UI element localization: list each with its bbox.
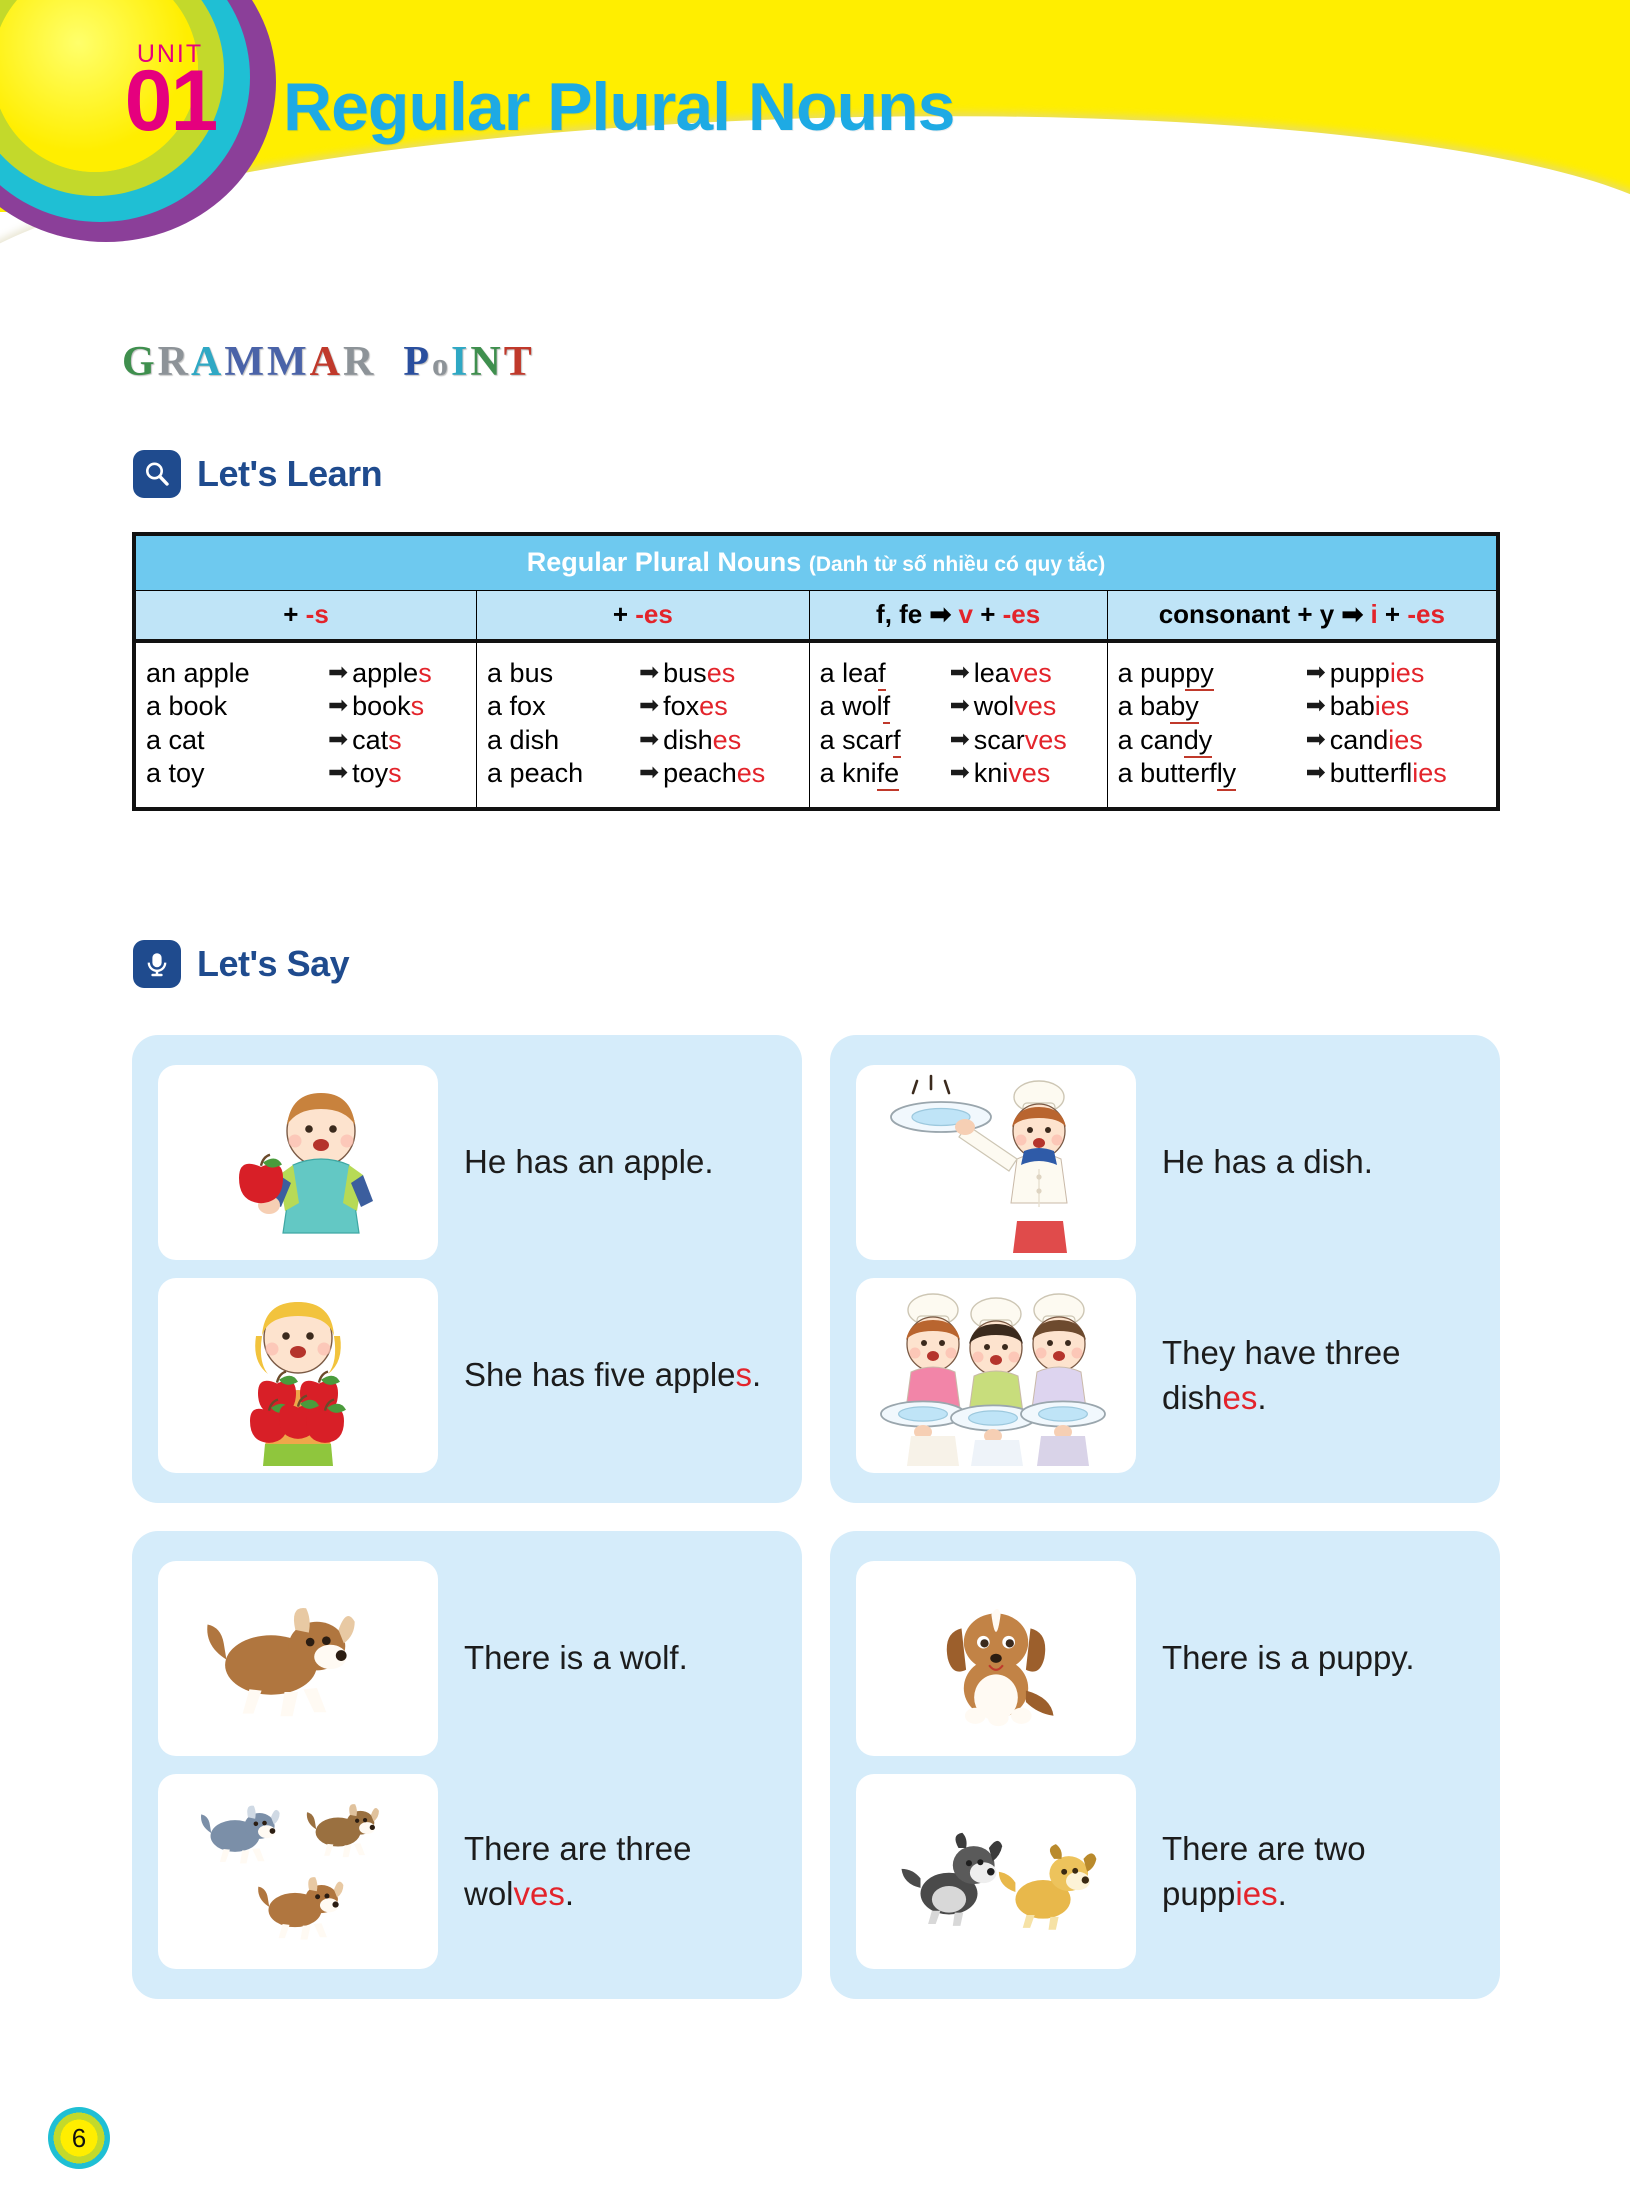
singular-word: a puppy bbox=[1118, 657, 1302, 690]
word-pair-row: a candy➡candies bbox=[1118, 724, 1486, 757]
singular-word: a book bbox=[146, 690, 324, 723]
highlighted-ending: f bbox=[893, 725, 901, 758]
word-pair-row: a peach➡peaches bbox=[487, 757, 799, 790]
word-pair-row: a baby➡babies bbox=[1118, 690, 1486, 723]
arrow-icon: ➡ bbox=[1302, 758, 1330, 788]
col-head-part: f, fe bbox=[876, 599, 929, 629]
example-sentence: She has five apples. bbox=[464, 1278, 776, 1473]
magnifier-icon bbox=[133, 450, 181, 498]
chef-boy-holding-dish-image bbox=[856, 1065, 1136, 1260]
word-pair-row: a scarf➡scarves bbox=[820, 724, 1097, 757]
col-head-part: -s bbox=[306, 599, 329, 629]
col-head-part: -es bbox=[1003, 599, 1041, 629]
plural-suffix: ves bbox=[1010, 657, 1052, 690]
column-header-f-to-v: f, fe ➡ v + -es bbox=[809, 591, 1107, 642]
section-title: Let's Say bbox=[197, 943, 349, 985]
word-pair-row: an apple➡apples bbox=[146, 657, 466, 690]
sentence-stem: There is a puppy. bbox=[1162, 1639, 1415, 1676]
sentence-plural-suffix: ies bbox=[1235, 1875, 1277, 1912]
highlighted-ending: f bbox=[883, 691, 891, 724]
plural-suffix: ies bbox=[1390, 657, 1425, 690]
sentence-period: . bbox=[565, 1875, 574, 1912]
word-pair-row: a butterfly➡butterflies bbox=[1118, 757, 1486, 790]
singular-word: a fox bbox=[487, 690, 635, 723]
table-column-header-row: + -s + -es f, fe ➡ v + -es consonant + y… bbox=[134, 591, 1498, 642]
unit-number: 01 bbox=[98, 58, 243, 144]
arrow-icon: ➡ bbox=[635, 725, 663, 755]
plural-stem: wol bbox=[974, 690, 1015, 723]
grammar-letter: o bbox=[432, 346, 451, 383]
singular-word: a bus bbox=[487, 657, 635, 690]
lets-say-panels: He has an apple.She has five apples.He h… bbox=[132, 1035, 1500, 1999]
example-row: There is a wolf. bbox=[158, 1561, 776, 1756]
table-title-en: Regular Plural Nouns bbox=[527, 547, 802, 577]
col-head-part: ➡ bbox=[1341, 599, 1370, 629]
singular-word: an apple bbox=[146, 657, 324, 690]
grammar-letter: R bbox=[343, 338, 376, 386]
word-pair-row: a wolf➡wolves bbox=[820, 690, 1097, 723]
arrow-icon: ➡ bbox=[635, 758, 663, 788]
sentence-plural-suffix: ves bbox=[514, 1875, 565, 1912]
three-chefs-holding-dishes-image bbox=[856, 1278, 1136, 1473]
example-row: There is a puppy. bbox=[856, 1561, 1474, 1756]
plural-stem: dish bbox=[663, 724, 713, 757]
table-title-row: Regular Plural Nouns (Danh từ số nhiều c… bbox=[134, 534, 1498, 591]
word-pair-row: a puppy➡puppies bbox=[1118, 657, 1486, 690]
singular-word: a butterfly bbox=[1118, 757, 1302, 790]
arrow-icon: ➡ bbox=[946, 691, 974, 721]
plural-stem: lea bbox=[974, 657, 1010, 690]
word-pair-row: a toy➡toys bbox=[146, 757, 466, 790]
grammar-letter: G bbox=[122, 338, 158, 386]
example-sentence: There is a wolf. bbox=[464, 1561, 776, 1756]
example-row: She has five apples. bbox=[158, 1278, 776, 1473]
microphone-icon bbox=[133, 940, 181, 988]
grammar-letter: A bbox=[310, 338, 343, 386]
singular-word: a wolf bbox=[820, 690, 946, 723]
example-row: There are three wolves. bbox=[158, 1774, 776, 1969]
word-pair-row: a book➡books bbox=[146, 690, 466, 723]
singular-word: a leaf bbox=[820, 657, 946, 690]
column-header-y-to-i: consonant + y ➡ i + -es bbox=[1107, 591, 1498, 642]
plural-stem: bus bbox=[663, 657, 707, 690]
highlighted-ending: f bbox=[878, 658, 886, 691]
sentence-stem: He has a dish. bbox=[1162, 1143, 1373, 1180]
section-title: Let's Learn bbox=[197, 453, 382, 495]
plural-stem: apple bbox=[352, 657, 418, 690]
plural-suffix: ies bbox=[1412, 757, 1447, 790]
two-puppies-image bbox=[856, 1774, 1136, 1969]
plural-suffix: ves bbox=[1014, 690, 1056, 723]
plural-stem: pupp bbox=[1330, 657, 1390, 690]
sentence-stem: There is a wolf. bbox=[464, 1639, 688, 1676]
plural-suffix: ies bbox=[1375, 690, 1410, 723]
column-header-es: + -es bbox=[477, 591, 810, 642]
word-pair-row: a knife➡knives bbox=[820, 757, 1097, 790]
plural-suffix: s bbox=[411, 690, 425, 723]
table-body-row: an apple➡applesa book➡booksa cat➡catsa t… bbox=[134, 641, 1498, 809]
table-title: Regular Plural Nouns (Danh từ số nhiều c… bbox=[134, 534, 1498, 591]
arrow-icon: ➡ bbox=[324, 691, 352, 721]
plural-stem: peach bbox=[663, 757, 737, 790]
singular-word: a candy bbox=[1118, 724, 1302, 757]
plural-suffix: s bbox=[388, 757, 402, 790]
word-pair-row: a fox➡foxes bbox=[487, 690, 799, 723]
plural-stem: cat bbox=[352, 724, 388, 757]
plural-stem: fox bbox=[663, 690, 699, 723]
grammar-letter: P bbox=[403, 338, 432, 386]
grammar-letter: R bbox=[158, 338, 191, 386]
grammar-letter: T bbox=[504, 338, 535, 386]
singular-prefix: a can bbox=[1118, 725, 1184, 755]
plural-suffix: s bbox=[418, 657, 432, 690]
example-row: He has an apple. bbox=[158, 1065, 776, 1260]
example-sentence: He has a dish. bbox=[1162, 1065, 1474, 1260]
cell-plural-f-to-ves: a leaf➡leavesa wolf➡wolvesa scarf➡scarve… bbox=[809, 641, 1107, 809]
example-row: He has a dish. bbox=[856, 1065, 1474, 1260]
girl-holding-five-apples-image bbox=[158, 1278, 438, 1473]
single-wolf-image bbox=[158, 1561, 438, 1756]
grammar-letter: N bbox=[470, 338, 503, 386]
example-sentence: They have three dishes. bbox=[1162, 1278, 1474, 1473]
arrow-icon: ➡ bbox=[946, 725, 974, 755]
singular-word: a peach bbox=[487, 757, 635, 790]
sentence-stem: There are three wol bbox=[464, 1830, 691, 1912]
word-pair-row: a cat➡cats bbox=[146, 724, 466, 757]
grammar-letter: A bbox=[191, 338, 224, 386]
arrow-icon: ➡ bbox=[946, 658, 974, 688]
singular-word: a scarf bbox=[820, 724, 946, 757]
plural-suffix: es bbox=[737, 757, 766, 790]
sentence-plural-suffix: es bbox=[1223, 1379, 1258, 1416]
cell-plural-s: an apple➡applesa book➡booksa cat➡catsa t… bbox=[134, 641, 477, 809]
highlighted-ending: ly bbox=[1217, 758, 1237, 791]
example-row: There are two puppies. bbox=[856, 1774, 1474, 1969]
singular-prefix: a ba bbox=[1118, 691, 1171, 721]
grammar-letter: I bbox=[451, 338, 470, 386]
singular-word: a knife bbox=[820, 757, 946, 790]
grammar-rules-table: Regular Plural Nouns (Danh từ số nhiều c… bbox=[132, 532, 1500, 811]
highlighted-ending: py bbox=[1185, 658, 1214, 691]
example-sentence: There are three wolves. bbox=[464, 1774, 776, 1969]
plural-stem: cand bbox=[1330, 724, 1389, 757]
sentence-period: . bbox=[752, 1356, 761, 1393]
sentence-stem: He has an apple. bbox=[464, 1143, 714, 1180]
section-lets-say: Let's Say bbox=[133, 940, 349, 988]
singular-word: a toy bbox=[146, 757, 324, 790]
column-header-s: + -s bbox=[134, 591, 477, 642]
plural-suffix: ves bbox=[1025, 724, 1067, 757]
dish-panel: He has a dish.They have three dishes. bbox=[830, 1035, 1500, 1503]
col-head-part: -es bbox=[635, 599, 673, 629]
page-title: Regular Plural Nouns bbox=[283, 68, 954, 146]
word-pair-row: a bus➡buses bbox=[487, 657, 799, 690]
puppy-panel: There is a puppy.There are two puppies. bbox=[830, 1531, 1500, 1999]
table-title-vn: (Danh từ số nhiều có quy tắc) bbox=[809, 553, 1105, 576]
wolf-panel: There is a wolf.There are three wolves. bbox=[132, 1531, 802, 1999]
sentence-period: . bbox=[1257, 1379, 1266, 1416]
page-number: 6 bbox=[48, 2107, 110, 2169]
col-head-part: + bbox=[1378, 599, 1408, 629]
single-puppy-image bbox=[856, 1561, 1136, 1756]
plural-suffix: ies bbox=[1388, 724, 1423, 757]
page-header: UNIT 01 Regular Plural Nouns bbox=[0, 0, 1630, 270]
arrow-icon: ➡ bbox=[324, 658, 352, 688]
plural-stem: butterfl bbox=[1330, 757, 1413, 790]
arrow-icon: ➡ bbox=[946, 758, 974, 788]
arrow-icon: ➡ bbox=[635, 658, 663, 688]
plural-stem: scar bbox=[974, 724, 1025, 757]
plural-suffix: ves bbox=[1008, 757, 1050, 790]
singular-prefix: a pup bbox=[1118, 658, 1186, 688]
col-head-part: + bbox=[283, 599, 305, 629]
plural-stem: bab bbox=[1330, 690, 1375, 723]
plural-suffix: es bbox=[707, 657, 736, 690]
apple-panel: He has an apple.She has five apples. bbox=[132, 1035, 802, 1503]
arrow-icon: ➡ bbox=[324, 725, 352, 755]
arrow-icon: ➡ bbox=[1302, 725, 1330, 755]
example-sentence: He has an apple. bbox=[464, 1065, 776, 1260]
singular-prefix: a butterf bbox=[1118, 758, 1217, 788]
singular-prefix: a wol bbox=[820, 691, 883, 721]
boy-holding-apple-image bbox=[158, 1065, 438, 1260]
plural-stem: book bbox=[352, 690, 411, 723]
plural-suffix: es bbox=[699, 690, 728, 723]
cell-plural-y-to-ies: a puppy➡puppiesa baby➡babiesa candy➡cand… bbox=[1107, 641, 1498, 809]
col-head-part: ➡ bbox=[929, 599, 958, 629]
arrow-icon: ➡ bbox=[1302, 691, 1330, 721]
grammar-letter: M bbox=[267, 338, 310, 386]
highlighted-ending: dy bbox=[1184, 725, 1213, 758]
grammar-point-heading: GRAMMAR PoINT bbox=[122, 338, 535, 386]
example-row: They have three dishes. bbox=[856, 1278, 1474, 1473]
grammar-letter bbox=[376, 338, 390, 386]
highlighted-ending: by bbox=[1170, 691, 1199, 724]
word-pair-row: a dish➡dishes bbox=[487, 724, 799, 757]
col-head-part: consonant + y bbox=[1159, 599, 1342, 629]
col-head-part: i bbox=[1370, 599, 1377, 629]
plural-suffix: es bbox=[713, 724, 742, 757]
highlighted-ending: fe bbox=[877, 758, 900, 791]
col-head-part: + bbox=[973, 599, 1003, 629]
arrow-icon: ➡ bbox=[324, 758, 352, 788]
arrow-icon: ➡ bbox=[635, 691, 663, 721]
grammar-letter: M bbox=[224, 338, 267, 386]
sentence-plural-suffix: s bbox=[736, 1356, 753, 1393]
col-head-part: + bbox=[613, 599, 635, 629]
plural-stem: kni bbox=[974, 757, 1009, 790]
word-pair-row: a leaf➡leaves bbox=[820, 657, 1097, 690]
singular-prefix: a kni bbox=[820, 758, 877, 788]
example-sentence: There is a puppy. bbox=[1162, 1561, 1474, 1756]
sentence-stem: She has five apple bbox=[464, 1356, 736, 1393]
sentence-stem: They have three dish bbox=[1162, 1334, 1400, 1416]
sentence-period: . bbox=[1278, 1875, 1287, 1912]
cell-plural-es: a bus➡busesa fox➡foxesa dish➡dishesa pea… bbox=[477, 641, 810, 809]
arrow-icon: ➡ bbox=[1302, 658, 1330, 688]
example-sentence: There are two puppies. bbox=[1162, 1774, 1474, 1969]
plural-suffix: s bbox=[388, 724, 402, 757]
three-wolves-image bbox=[158, 1774, 438, 1969]
singular-word: a cat bbox=[146, 724, 324, 757]
plural-stem: toy bbox=[352, 757, 388, 790]
grammar-letter bbox=[390, 338, 404, 386]
section-lets-learn: Let's Learn bbox=[133, 450, 382, 498]
singular-prefix: a scar bbox=[820, 725, 894, 755]
singular-word: a baby bbox=[1118, 690, 1302, 723]
singular-word: a dish bbox=[487, 724, 635, 757]
col-head-part: v bbox=[959, 599, 973, 629]
col-head-part: -es bbox=[1407, 599, 1445, 629]
singular-prefix: a lea bbox=[820, 658, 879, 688]
